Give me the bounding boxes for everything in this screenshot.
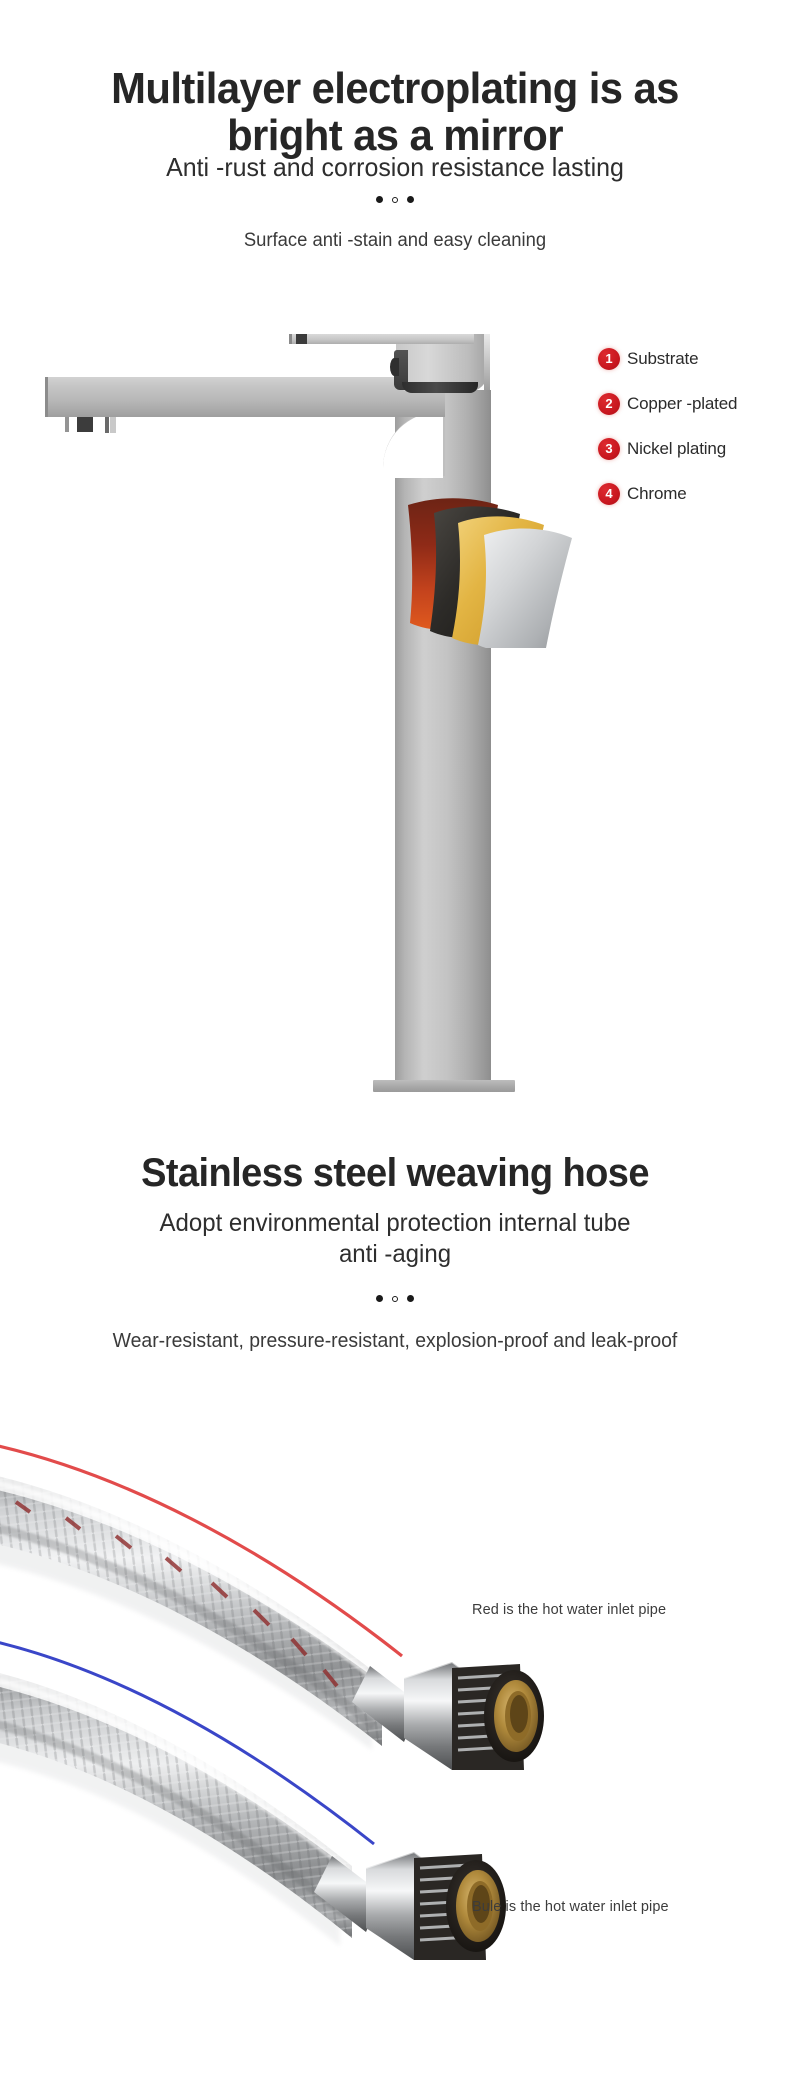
section-electroplating-title: Multilayer electroplating is as bright a… [0, 66, 790, 159]
faucet-hub-underside [402, 382, 478, 393]
subheadline-hose-line-2: anti -aging [16, 1239, 774, 1270]
legend-item-substrate[interactable]: 1 Substrate [598, 348, 788, 370]
layer-chrome-shape [478, 529, 572, 648]
faucet-lever-handle [292, 334, 474, 344]
section-electroplating-tagline: Surface anti -stain and easy cleaning [0, 230, 790, 252]
hose-product-photo [0, 1378, 790, 2076]
faucet-aerator-detail [65, 417, 69, 432]
product-detail-page: Multilayer electroplating is as bright a… [0, 0, 790, 2076]
dot-separator-2 [0, 1295, 790, 1302]
separator-dot-filled [407, 1295, 414, 1302]
legend-badge-4: 4 [598, 483, 620, 505]
legend-label-1: Substrate [627, 349, 698, 369]
section-hose-tagline: Wear-resistant, pressure-resistant, expl… [0, 1330, 790, 1353]
section-hose-subheadline: Adopt environmental protection internal … [0, 1208, 790, 1269]
faucet-lever-tip [289, 334, 292, 344]
dot-separator-1 [0, 196, 790, 203]
faucet-spout-tip-edge [45, 377, 48, 417]
subheadline-hose-line-1: Adopt environmental protection internal … [16, 1208, 774, 1239]
headline-hose: Stainless steel weaving hose [20, 1152, 771, 1194]
caption-red-hose: Red is the hot water inlet pipe [472, 1602, 666, 1618]
legend-item-copper-plated[interactable]: 2 Copper -plated [598, 393, 788, 415]
coating-layers-legend: 1 Substrate 2 Copper -plated 3 Nickel pl… [598, 348, 788, 528]
legend-badge-1: 1 [598, 348, 620, 370]
legend-label-3: Nickel plating [627, 439, 726, 459]
faucet-curve-mask [383, 412, 443, 478]
coating-layers-diagram [400, 483, 590, 643]
legend-item-nickel-plating[interactable]: 3 Nickel plating [598, 438, 788, 460]
legend-item-chrome[interactable]: 4 Chrome [598, 483, 788, 505]
separator-dot-filled [376, 196, 383, 203]
faucet-aerator-detail [105, 417, 109, 433]
separator-dot-filled [376, 1295, 383, 1302]
faucet-spout-arm [45, 377, 445, 417]
caption-blue-hose: Bule is the hot water inlet pipe [472, 1899, 669, 1915]
legend-badge-3: 3 [598, 438, 620, 460]
section-hose-title: Stainless steel weaving hose [0, 1152, 790, 1194]
faucet-aerator-detail [77, 417, 93, 432]
faucet-hub-highlight [484, 334, 490, 390]
separator-dot-hollow [392, 197, 398, 203]
legend-label-2: Copper -plated [627, 394, 737, 414]
headline-line-1: Multilayer electroplating is as [20, 66, 771, 113]
separator-dot-hollow [392, 1296, 398, 1302]
faucet-base-plate [373, 1080, 515, 1092]
legend-badge-2: 2 [598, 393, 620, 415]
faucet-aerator-detail [110, 417, 116, 433]
legend-label-4: Chrome [627, 484, 687, 504]
section-electroplating-subheadline: Anti -rust and corrosion resistance last… [0, 152, 790, 184]
faucet-hub-notch [390, 358, 399, 376]
faucet-lever-endcap [296, 334, 307, 344]
separator-dot-filled [407, 196, 414, 203]
